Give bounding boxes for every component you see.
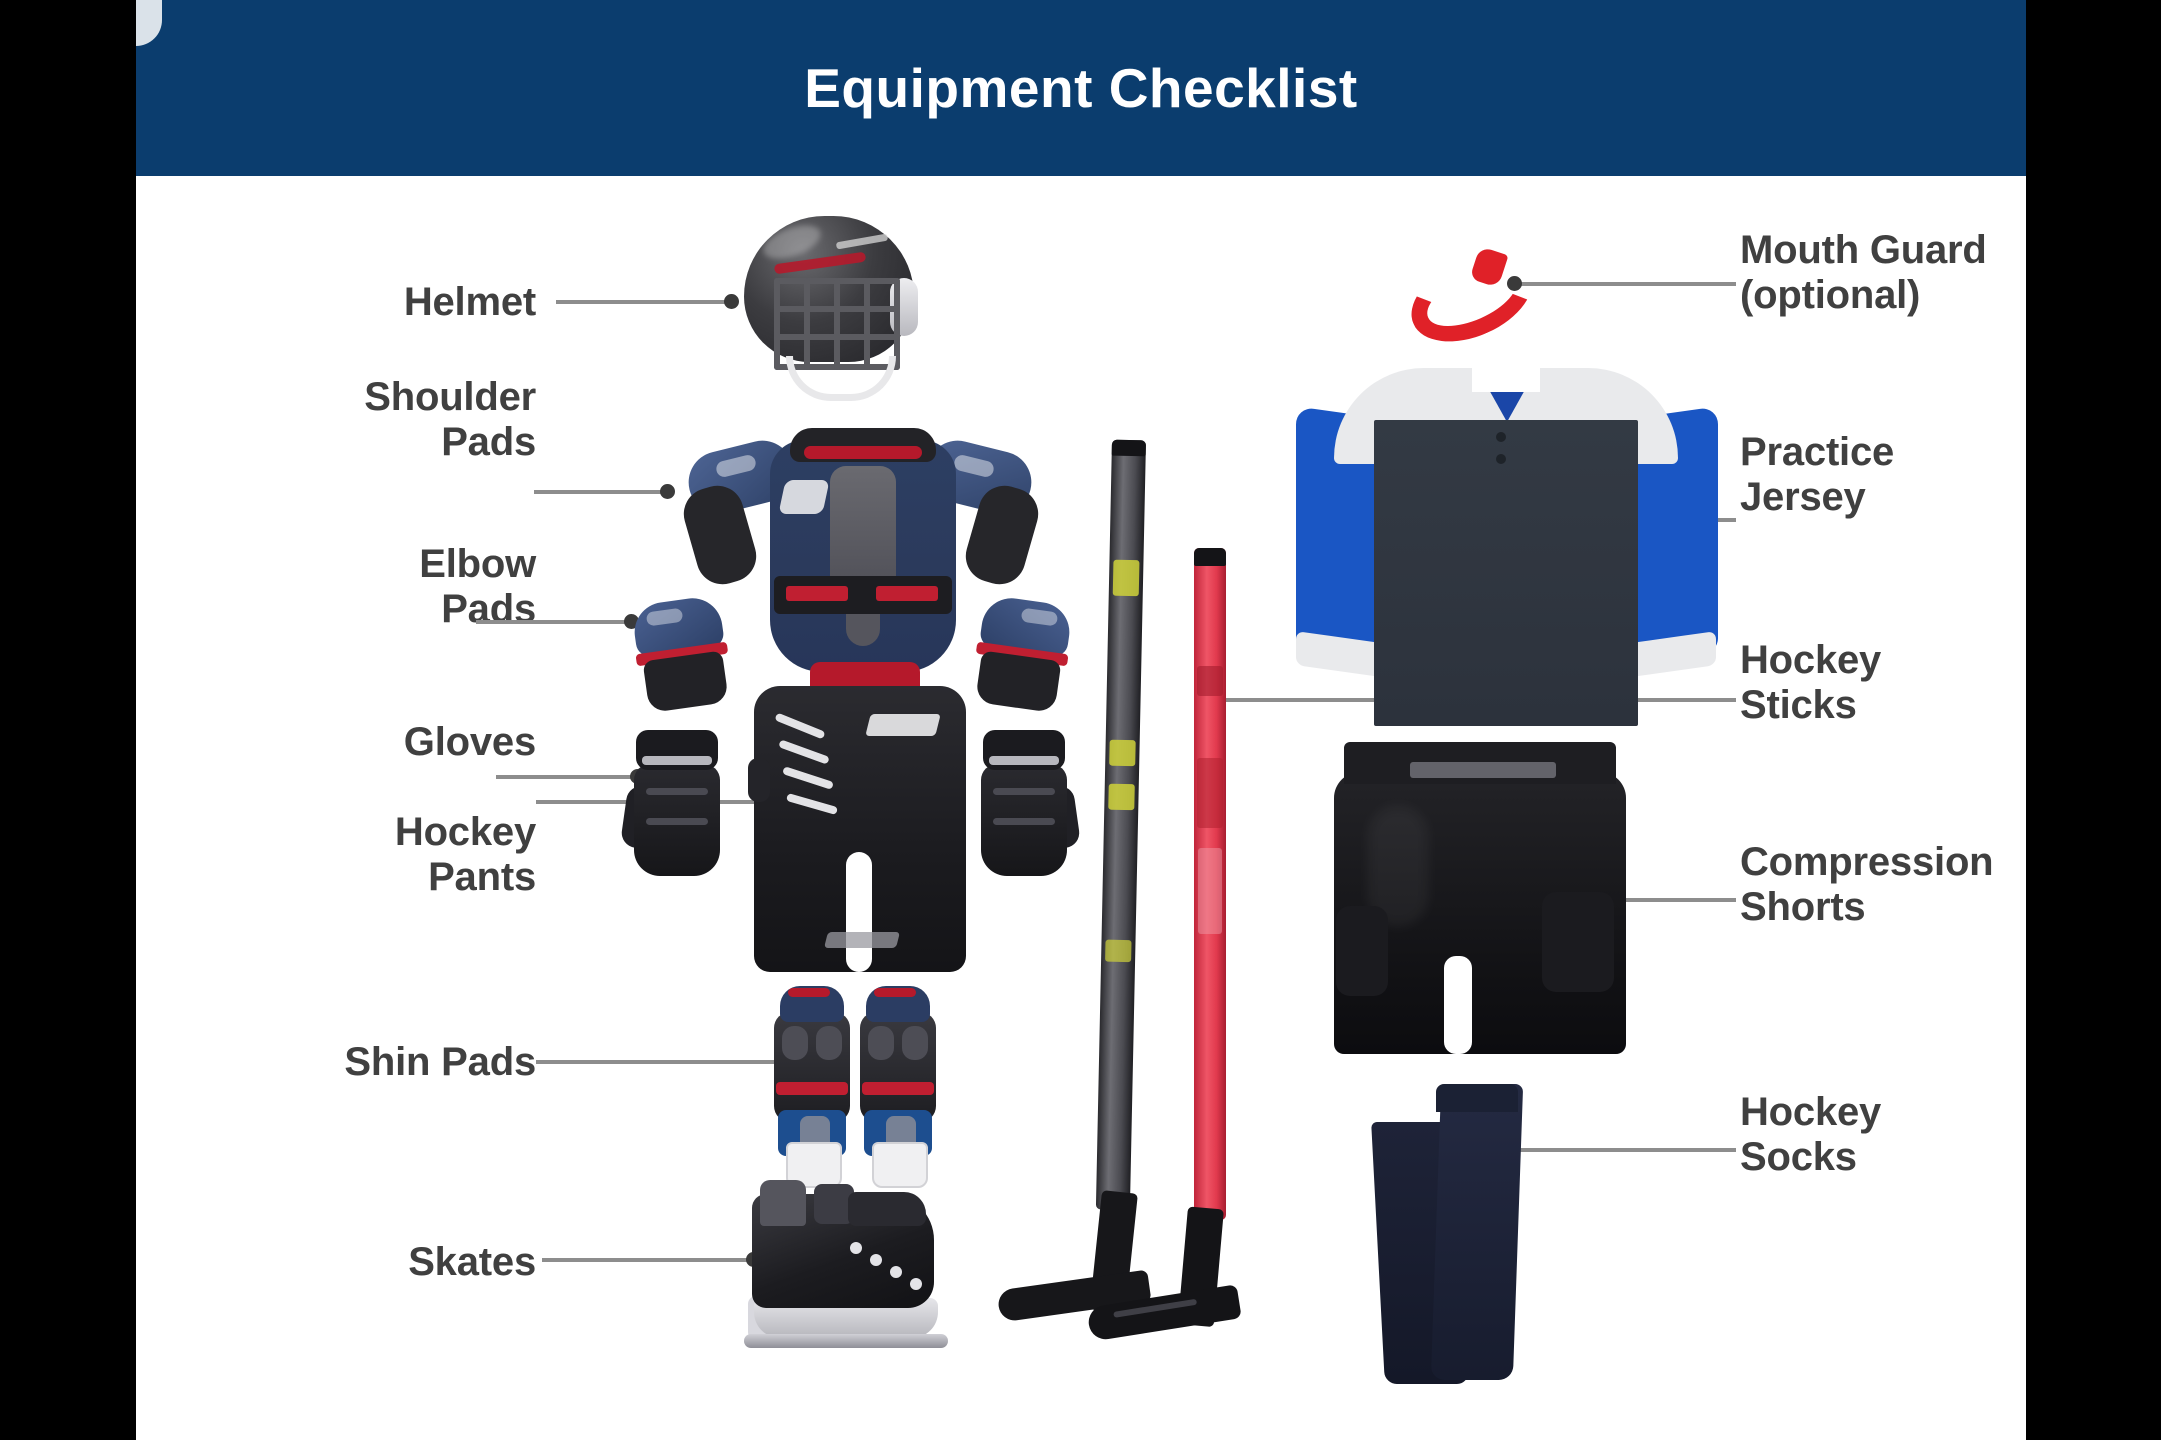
elbow-pad-right-image <box>967 594 1077 716</box>
pants-brand-mark <box>865 714 940 736</box>
shin-pad-left-image <box>774 986 850 1186</box>
label-hockey-socks: Hockey Socks <box>1740 1090 2161 1180</box>
compression-shorts-pad-right <box>1542 892 1614 992</box>
hockey-sock-cuff <box>1436 1084 1518 1112</box>
mouth-guard-image <box>1408 248 1518 308</box>
label-shoulder-pads: Shoulder Pads <box>156 375 536 465</box>
hockey-socks-image <box>1378 1084 1598 1404</box>
leader-helmet <box>556 300 732 304</box>
shin-pad-right-image <box>860 986 936 1186</box>
jersey-button-lower <box>1496 454 1506 464</box>
jersey-torso <box>1374 420 1638 726</box>
skate-blade <box>744 1334 948 1348</box>
equipment-checklist-card: Equipment Checklist Helmet Shoulder Pads… <box>136 0 2026 1440</box>
leader-shin-pads <box>536 1060 782 1064</box>
label-skates: Skates <box>156 1240 536 1285</box>
label-compression-shorts: Compression Shorts <box>1740 840 2161 930</box>
label-hockey-pants: Hockey Pants <box>156 810 536 900</box>
shoulder-logo-patch <box>778 480 829 514</box>
hockey-stick-gray-shaft <box>1096 440 1146 1211</box>
label-practice-jersey: Practice Jersey <box>1740 430 2161 520</box>
glove-right-image <box>981 730 1067 882</box>
label-mouth-guard: Mouth Guard (optional) <box>1740 228 2161 318</box>
practice-jersey-image <box>1296 348 1716 726</box>
pants-laces <box>774 722 848 822</box>
glove-left-image <box>634 730 720 882</box>
compression-shorts-leg-gap <box>1444 956 1472 1054</box>
jersey-button-upper <box>1496 432 1506 442</box>
screenshot-root: Equipment Checklist Helmet Shoulder Pads… <box>0 0 2161 1440</box>
label-shin-pads: Shin Pads <box>146 1040 536 1085</box>
helmet-image <box>740 216 918 396</box>
compression-shorts-image <box>1326 742 1656 1054</box>
compression-shorts-pad-left <box>1336 906 1388 996</box>
jersey-collar-opening <box>1472 358 1540 392</box>
mouth-guard-arch <box>1398 237 1546 358</box>
helmet-chin-cup <box>786 356 896 401</box>
leader-gloves <box>496 775 636 779</box>
pants-leg-gap <box>846 852 872 972</box>
leader-skates <box>542 1258 752 1262</box>
skate-tongue <box>760 1180 806 1226</box>
skate-cuff <box>848 1192 926 1226</box>
skates-image <box>730 1180 960 1376</box>
label-hockey-sticks: Hockey Sticks <box>1740 638 2161 728</box>
shoulder-belt-accent-right <box>876 586 938 601</box>
pants-hip-pad <box>748 758 770 802</box>
label-helmet: Helmet <box>196 280 536 325</box>
label-gloves: Gloves <box>156 720 536 765</box>
header-corner-notch <box>136 0 162 46</box>
leader-elbow-pads <box>476 620 630 624</box>
leader-mouth-guard <box>1514 282 1736 286</box>
elbow-pad-left-image <box>627 594 737 716</box>
dot-helmet <box>724 294 739 309</box>
hockey-sock-front <box>1431 1084 1523 1380</box>
shoulder-collar-accent <box>804 446 922 459</box>
pants-lower-brand-mark <box>824 932 900 948</box>
compression-shorts-brand-mark <box>1410 762 1556 778</box>
hockey-stick-red-shaft <box>1194 548 1226 1220</box>
shoulder-belt-accent-left <box>786 586 848 601</box>
header-bar: Equipment Checklist <box>136 0 2026 176</box>
leader-shoulder-pads <box>534 490 666 494</box>
page-title: Equipment Checklist <box>804 56 1357 120</box>
hockey-pants-image <box>748 662 972 972</box>
label-elbow-pads: Elbow Pads <box>156 542 536 632</box>
